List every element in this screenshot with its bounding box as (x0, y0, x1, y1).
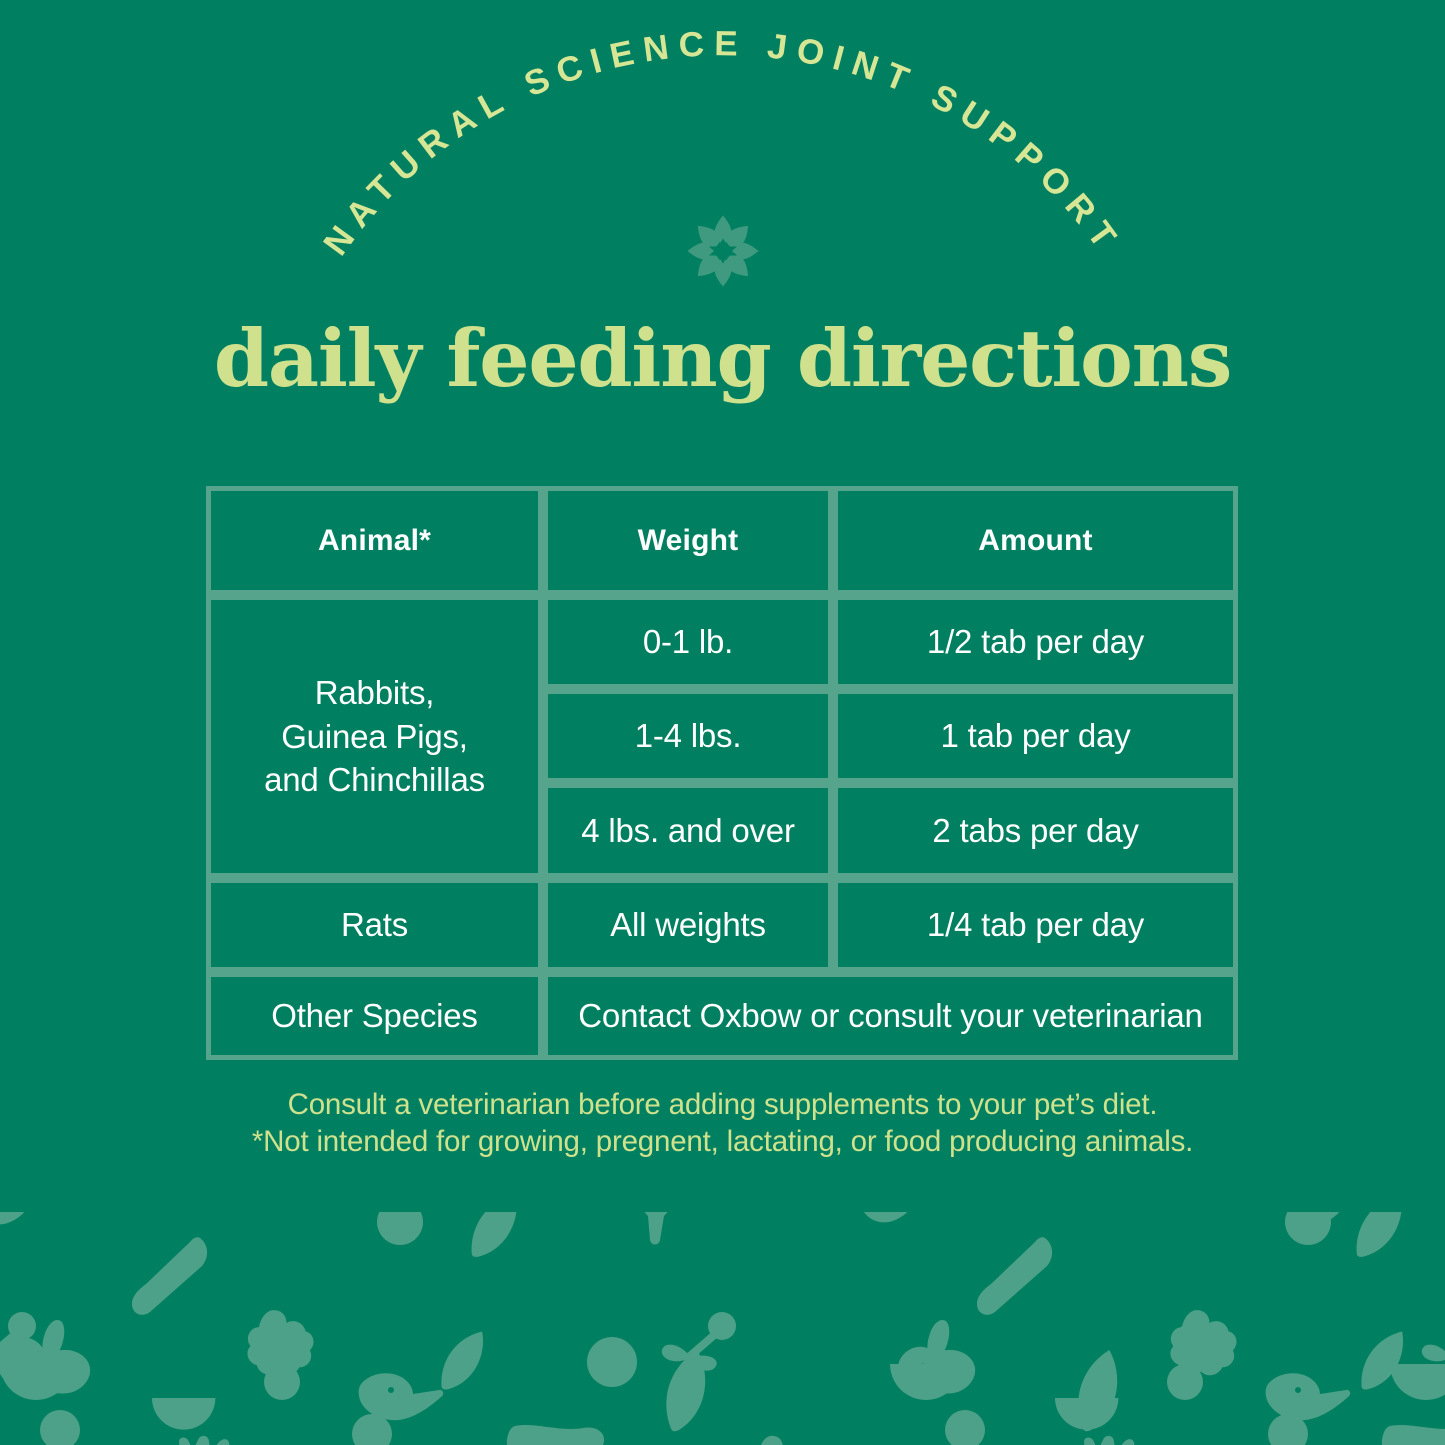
footnote-line-2: *Not intended for growing, pregnent, lac… (0, 1123, 1445, 1160)
cell-animal-rats: Rats (206, 878, 543, 972)
footnote: Consult a veterinarian before adding sup… (0, 1086, 1445, 1160)
column-header-amount: Amount (833, 486, 1238, 595)
cell-contact-note: Contact Oxbow or consult your veterinari… (543, 972, 1238, 1060)
feeding-directions-panel: NATURAL SCIENCE JOINT SUPPORT da (0, 0, 1445, 1445)
page-title: daily feeding directions (0, 316, 1445, 401)
cell-amount: 1/4 tab per day (833, 878, 1238, 972)
animal-line-3: and Chinchillas (264, 761, 485, 798)
table-header-row: Animal* Weight Amount (206, 486, 1238, 595)
cell-weight: 4 lbs. and over (543, 783, 833, 878)
footnote-line-1: Consult a veterinarian before adding sup… (0, 1086, 1445, 1123)
cell-amount: 1 tab per day (833, 689, 1238, 783)
animal-line-2: Guinea Pigs, (281, 718, 468, 755)
cell-animal-other: Other Species (206, 972, 543, 1060)
cell-animal-rabbits: Rabbits, Guinea Pigs, and Chinchillas (206, 595, 543, 878)
column-header-weight: Weight (543, 486, 833, 595)
cell-weight: 1-4 lbs. (543, 689, 833, 783)
cell-weight: 0-1 lb. (543, 595, 833, 689)
column-header-animal: Animal* (206, 486, 543, 595)
animal-line-1: Rabbits, (315, 674, 434, 711)
cell-weight: All weights (543, 878, 833, 972)
table-row: Rabbits, Guinea Pigs, and Chinchillas 0-… (206, 595, 1238, 689)
feeding-table: Animal* Weight Amount Rabbits, Guinea Pi… (206, 486, 1238, 1060)
flower-rosette-icon (686, 214, 760, 288)
cell-amount: 1/2 tab per day (833, 595, 1238, 689)
botanical-animal-pattern (0, 1212, 1445, 1445)
cell-amount: 2 tabs per day (833, 783, 1238, 878)
table-row: Other Species Contact Oxbow or consult y… (206, 972, 1238, 1060)
table-row: Rats All weights 1/4 tab per day (206, 878, 1238, 972)
